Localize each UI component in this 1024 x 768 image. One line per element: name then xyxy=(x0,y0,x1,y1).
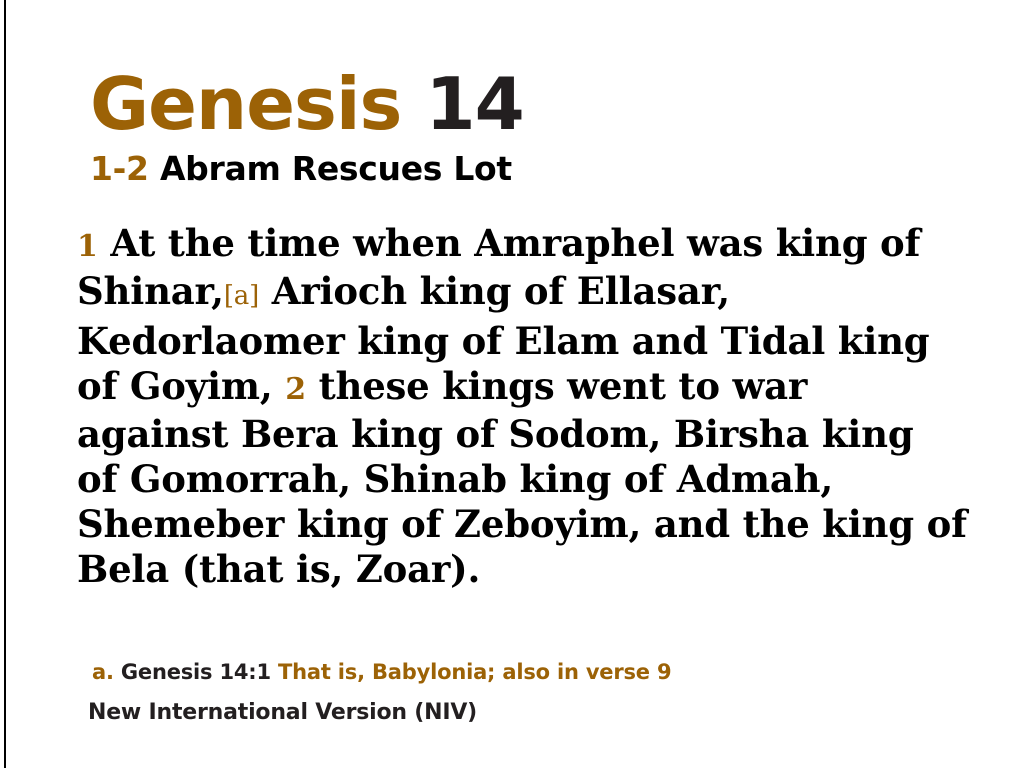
scripture-passage: 1 At the time when Amraphel was king of … xyxy=(77,221,957,592)
verse-number-2: 2 xyxy=(285,372,306,407)
passage-line-1-text: At the time when Amraphel was king of xyxy=(98,221,921,265)
subtitle-heading: Abram Rescues Lot xyxy=(160,149,512,188)
footnote-reference-a-icon[interactable]: [a] xyxy=(224,281,259,311)
slide-content: Genesis 14 1-2 Abram Rescues Lot 1 At th… xyxy=(0,0,1024,768)
passage-line-1: 1 At the time when Amraphel was king of xyxy=(77,221,957,269)
verse-number-1: 1 xyxy=(77,229,98,264)
footnote-reference: Genesis 14:1 xyxy=(121,660,271,684)
title-chapter-number: 14 xyxy=(426,62,524,146)
title-space xyxy=(401,62,425,146)
passage-line-2-text-b: Arioch king of Ellasar, xyxy=(259,269,730,313)
passage-line-6: of Gomorrah, Shinab king of Admah, xyxy=(77,457,957,502)
passage-line-2-text-a: Shinar, xyxy=(77,269,224,313)
passage-line-4-text-a: of Goyim, xyxy=(77,364,285,408)
passage-line-5: against Bera king of Sodom, Birsha king xyxy=(77,412,957,457)
passage-line-3: Kedorlaomer king of Elam and Tidal king xyxy=(77,319,957,364)
footnote-note-text: That is, Babylonia; also in verse 9 xyxy=(278,660,671,684)
passage-line-8: Bela (that is, Zoar). xyxy=(77,547,957,592)
passage-subtitle: 1-2 Abram Rescues Lot xyxy=(90,150,512,188)
passage-line-4-text-b: these kings went to war xyxy=(306,364,807,408)
passage-line-2: Shinar,[a] Arioch king of Ellasar, xyxy=(77,269,957,319)
subtitle-verse-range: 1-2 xyxy=(90,149,149,188)
passage-line-4: of Goyim, 2 these kings went to war xyxy=(77,364,957,412)
bible-verse-slide: Genesis 14 1-2 Abram Rescues Lot 1 At th… xyxy=(0,0,1024,768)
footnote: a. Genesis 14:1 That is, Babylonia; also… xyxy=(92,660,671,685)
footnote-space-2 xyxy=(271,660,278,684)
passage-line-7: Shemeber king of Zeboyim, and the king o… xyxy=(77,502,957,547)
footnote-space-1 xyxy=(114,660,121,684)
bible-version-label: New International Version (NIV) xyxy=(88,700,477,726)
page-title: Genesis 14 xyxy=(90,66,524,142)
title-book-name: Genesis xyxy=(90,62,401,146)
subtitle-space xyxy=(149,149,160,188)
footnote-marker: a. xyxy=(92,660,114,684)
